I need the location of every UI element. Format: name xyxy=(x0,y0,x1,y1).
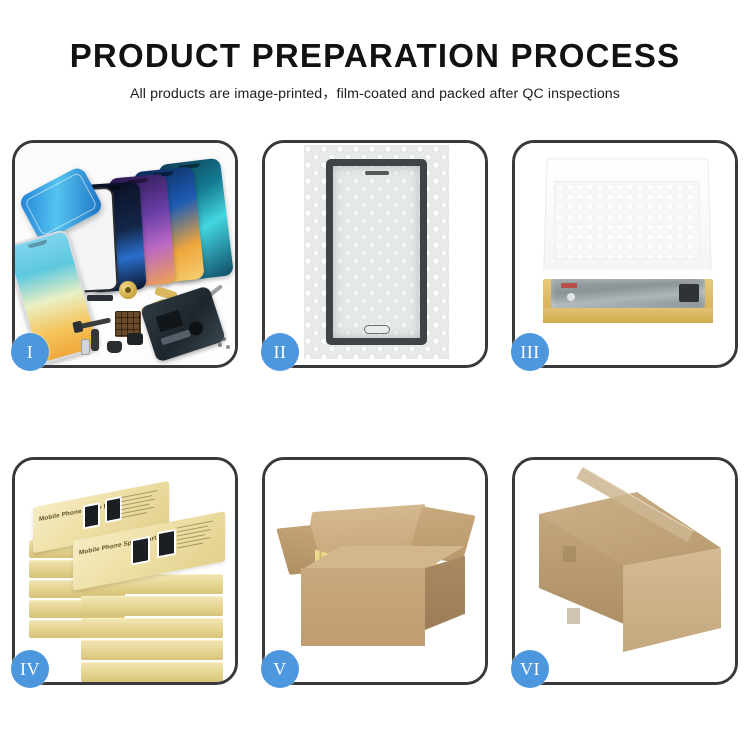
stacked-box-right-3 xyxy=(81,618,223,638)
earpiece-slot xyxy=(365,171,389,175)
step-badge-5: V xyxy=(261,650,299,688)
retail-box-stack: Mobile Phone Spare Parts Mobile Phone Sp… xyxy=(23,468,227,678)
step-panel-1: I xyxy=(12,140,238,368)
process-step-grid: I II xyxy=(12,140,738,685)
step-panel-6: VI xyxy=(512,457,738,685)
step-badge-6: VI xyxy=(511,650,549,688)
inner-box-front-panel xyxy=(543,308,713,323)
speaker-part-icon xyxy=(87,295,113,301)
screen-connector xyxy=(679,284,699,302)
step-3-image xyxy=(515,143,735,365)
page-subtitle: All products are image-printed，film-coat… xyxy=(0,85,750,103)
step-badge-1: I xyxy=(11,333,49,371)
step-badge-3: III xyxy=(511,333,549,371)
lid-window-b-second xyxy=(157,529,176,559)
stacked-box-right-5 xyxy=(81,662,223,682)
screen-glass-panel xyxy=(326,159,427,345)
lid-spec-lines-second xyxy=(177,520,217,558)
camera-module-part-icon xyxy=(127,333,143,345)
step-panel-3: III xyxy=(512,140,738,368)
carton-handle-tab-lower xyxy=(567,608,580,624)
product-preparation-infographic: PRODUCT PREPARATION PROCESS All products… xyxy=(0,0,750,750)
page-title: PRODUCT PREPARATION PROCESS xyxy=(0,36,750,76)
screen-highlight xyxy=(567,293,575,301)
step-panel-5: V xyxy=(262,457,488,685)
carton-handle-tab-upper xyxy=(563,546,576,562)
step-panel-4: Mobile Phone Spare Parts Mobile Phone Sp… xyxy=(12,457,238,685)
step-4-image: Mobile Phone Spare Parts Mobile Phone Sp… xyxy=(15,460,235,682)
lid-spec-lines-top xyxy=(121,489,161,527)
step-badge-2: II xyxy=(261,333,299,371)
step-panel-2: II xyxy=(262,140,488,368)
packed-screen xyxy=(551,279,705,308)
step-5-image xyxy=(265,460,485,682)
carton-front-face xyxy=(301,568,425,646)
red-tape-marker xyxy=(561,283,577,288)
lid-window-a-second xyxy=(131,536,150,566)
stacked-box-right-4 xyxy=(81,640,223,660)
coil-part-icon xyxy=(119,281,137,299)
sealed-carton-right-face xyxy=(623,548,721,652)
button-flex-part-icon xyxy=(91,329,99,351)
step-badge-4: IV xyxy=(11,650,49,688)
carton-side-face xyxy=(425,556,465,630)
home-button-cutout xyxy=(364,325,390,334)
buzzer-part-icon xyxy=(107,341,122,353)
step-1-image xyxy=(15,143,235,365)
lid-window-b-top xyxy=(105,496,122,523)
board-chip-c xyxy=(160,329,191,345)
bubble-wrap-photo xyxy=(304,145,449,359)
board-chip-a xyxy=(156,310,184,333)
foam-insert xyxy=(554,181,700,259)
step-2-image xyxy=(265,143,485,365)
step-6-image xyxy=(515,460,735,682)
stacked-box-right-2 xyxy=(81,596,223,616)
sim-tray-part-icon xyxy=(81,339,90,355)
header: PRODUCT PREPARATION PROCESS All products… xyxy=(0,36,750,103)
lid-window-a-top xyxy=(83,502,100,529)
